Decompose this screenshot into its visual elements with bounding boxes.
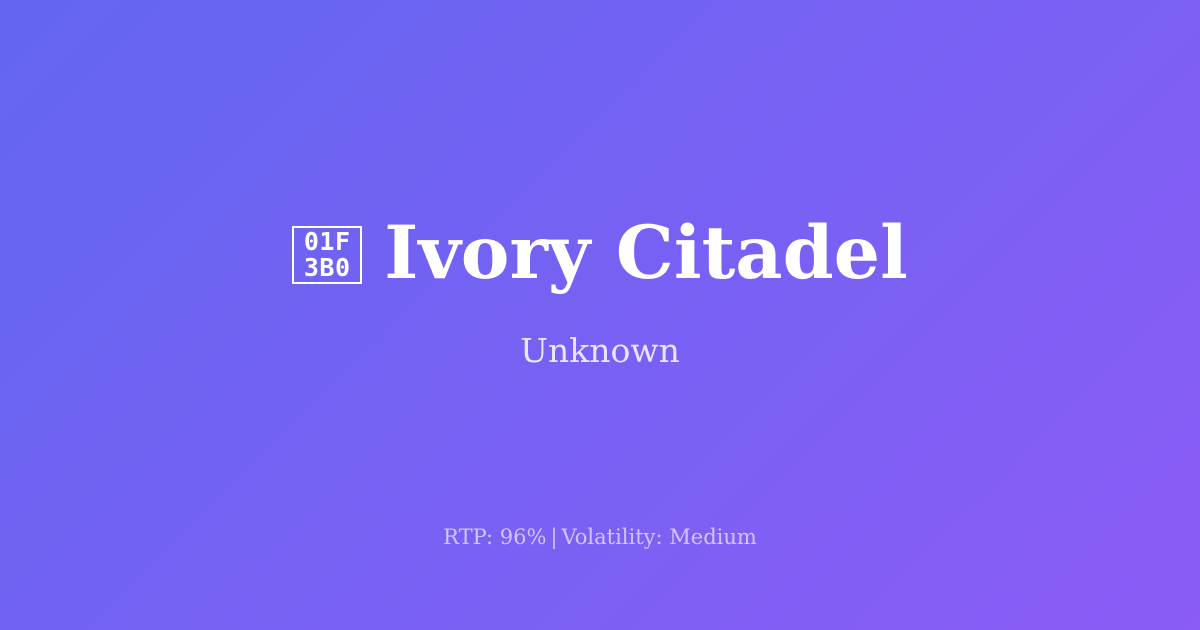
page-subtitle: Unknown — [520, 334, 680, 367]
title-row: 01F 3B0 Ivory Citadel — [292, 217, 908, 290]
meta-info-line: RTP: 96%|Volatility: Medium — [0, 527, 1200, 548]
volatility-value: Volatility: Medium — [562, 525, 757, 549]
tofu-codepoint-line-bottom: 3B0 — [304, 255, 351, 281]
slot-machine-icon: 01F 3B0 — [292, 226, 362, 284]
rtp-value: RTP: 96% — [443, 525, 546, 549]
meta-separator: | — [546, 525, 561, 549]
tofu-codepoint-line-top: 01F — [304, 229, 351, 255]
og-share-card: 01F 3B0 Ivory Citadel Unknown RTP: 96%|V… — [0, 0, 1200, 630]
page-title: Ivory Citadel — [384, 217, 908, 290]
